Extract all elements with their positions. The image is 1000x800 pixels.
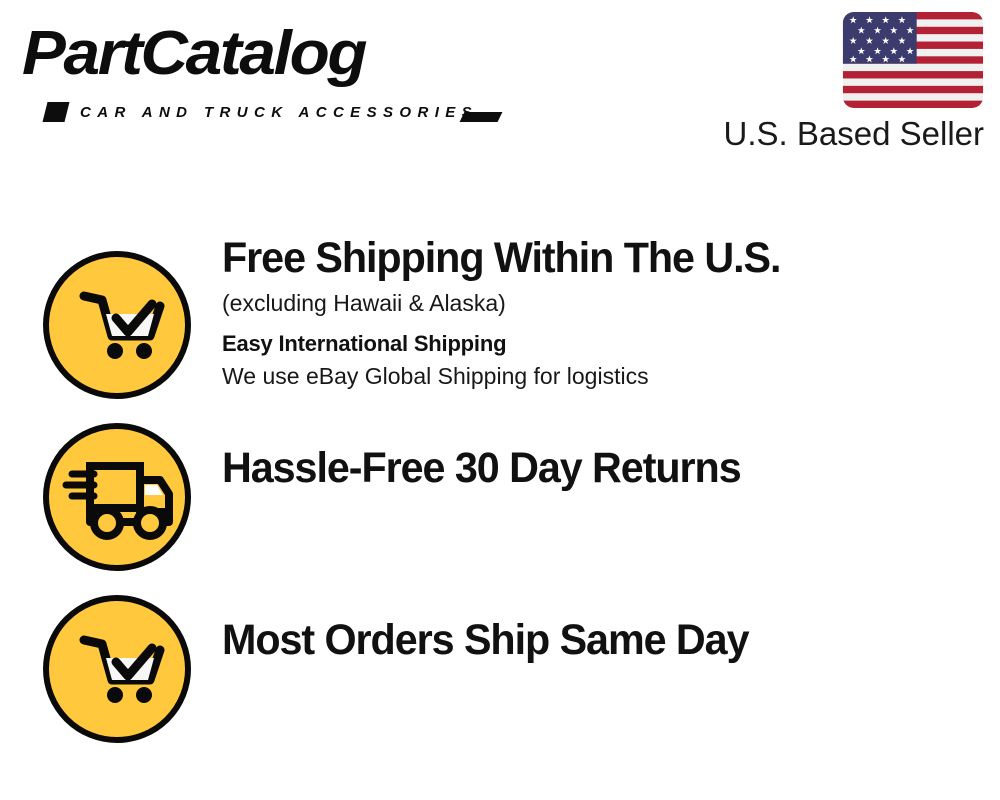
us-flag-icon: [842, 12, 984, 108]
shopping-cart-check-icon: [42, 250, 192, 400]
brand-tagline: CAR AND TRUCK ACCESSORIES: [80, 104, 478, 121]
delivery-truck-icon: [42, 422, 192, 572]
logo-flourish-left: [43, 102, 70, 122]
feature-title: Hassle-Free 30 Day Returns: [222, 442, 952, 494]
feature-row: Most Orders Ship Same Day: [0, 576, 1000, 748]
partcatalog-logo[interactable]: PartCatalog CAR AND TRUCK ACCESSORIES: [22, 18, 492, 118]
page-header: PartCatalog CAR AND TRUCK ACCESSORIES: [0, 0, 1000, 175]
feature-row: Hassle-Free 30 Day Returns: [0, 404, 1000, 576]
feature-row: Free Shipping Within The U.S. (excluding…: [0, 232, 1000, 404]
shopping-cart-check-icon: [42, 594, 192, 744]
feature-text-block: Free Shipping Within The U.S. (excluding…: [222, 232, 982, 391]
feature-text-block: Hassle-Free 30 Day Returns: [222, 442, 982, 494]
us-based-seller-label: U.S. Based Seller: [684, 115, 984, 153]
brand-wordmark: PartCatalog: [22, 18, 365, 90]
feature-title: Most Orders Ship Same Day: [222, 614, 952, 666]
feature-subtitle: Easy International Shipping: [222, 330, 982, 358]
feature-note: (excluding Hawaii & Alaska): [222, 288, 982, 318]
us-based-seller-badge: U.S. Based Seller: [684, 12, 984, 153]
feature-text-block: Most Orders Ship Same Day: [222, 614, 982, 666]
feature-title: Free Shipping Within The U.S.: [222, 232, 952, 284]
feature-description: We use eBay Global Shipping for logistic…: [222, 361, 982, 391]
